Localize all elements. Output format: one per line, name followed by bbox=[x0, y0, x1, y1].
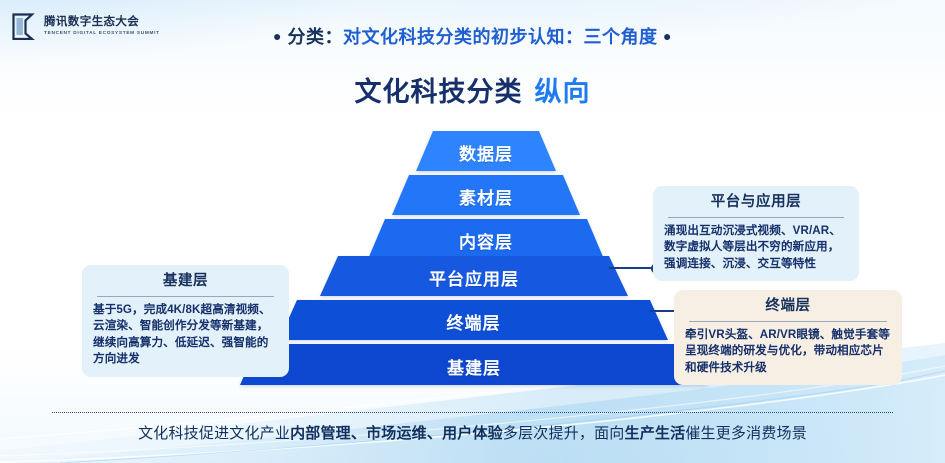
callout-infra-body: 基于5G，完成4K/8K超高清视频、云渲染、智能创作分发等新基建，继续向高算力、… bbox=[93, 302, 278, 368]
footer-seg-4-bold: 生产生活 bbox=[625, 425, 686, 442]
footer-seg-5: 催生更多消费场景 bbox=[685, 425, 807, 442]
callout-card-infra[interactable]: 基建层 基于5G，完成4K/8K超高清视频、云渲染、智能创作分发等新基建，继续向… bbox=[82, 265, 289, 377]
footer-divider bbox=[52, 412, 893, 413]
callout-card-platform[interactable]: 平台与应用层 涌现出互动沉浸式视频、VR/AR、数字虚拟人等层出不穷的新应用，强… bbox=[653, 186, 859, 281]
pyramid-layer-1-label: 数据层 bbox=[416, 140, 556, 165]
callout-card-terminal[interactable]: 终端层 牵引VR头盔、AR/VR眼镜、触觉手套等呈现终端的研发与优化，带动相应芯… bbox=[674, 290, 902, 385]
callout-terminal-divider bbox=[689, 321, 887, 322]
pyramid-layer-3-label: 内容层 bbox=[368, 228, 604, 253]
pyramid-layer-2-label: 素材层 bbox=[392, 184, 580, 209]
slide-canvas: 腾讯数字生态大会 TENCENT DIGITAL ECOSYSTEM SUMMI… bbox=[0, 0, 945, 463]
footer-seg-2-bold: 内部管理、市场运维、用户体验 bbox=[290, 425, 503, 442]
callout-terminal-title: 终端层 bbox=[685, 297, 891, 316]
callout-terminal-body: 牵引VR头盔、AR/VR眼镜、触觉手套等呈现终端的研发与优化，带动相应芯片和硬件… bbox=[685, 327, 891, 376]
callout-platform-title: 平台与应用层 bbox=[664, 193, 848, 212]
footer-seg-1: 文化科技促进文化产业 bbox=[138, 425, 290, 442]
callout-platform-divider bbox=[668, 217, 844, 218]
callout-infra-divider bbox=[97, 296, 274, 297]
footer-seg-3: 多层次提升，面向 bbox=[503, 425, 625, 442]
footer-caption: 文化科技促进文化产业内部管理、市场运维、用户体验多层次提升，面向生产生活催生更多… bbox=[0, 422, 945, 443]
pyramid-layer-4-label: 平台应用层 bbox=[320, 265, 628, 290]
pyramid-layer-6-label: 基建层 bbox=[240, 354, 708, 379]
callout-infra-title: 基建层 bbox=[93, 272, 278, 291]
callout-platform-body: 涌现出互动沉浸式视频、VR/AR、数字虚拟人等层出不穷的新应用，强调连接、沉浸、… bbox=[664, 223, 848, 272]
pyramid-layer-5-label: 终端层 bbox=[279, 309, 668, 334]
